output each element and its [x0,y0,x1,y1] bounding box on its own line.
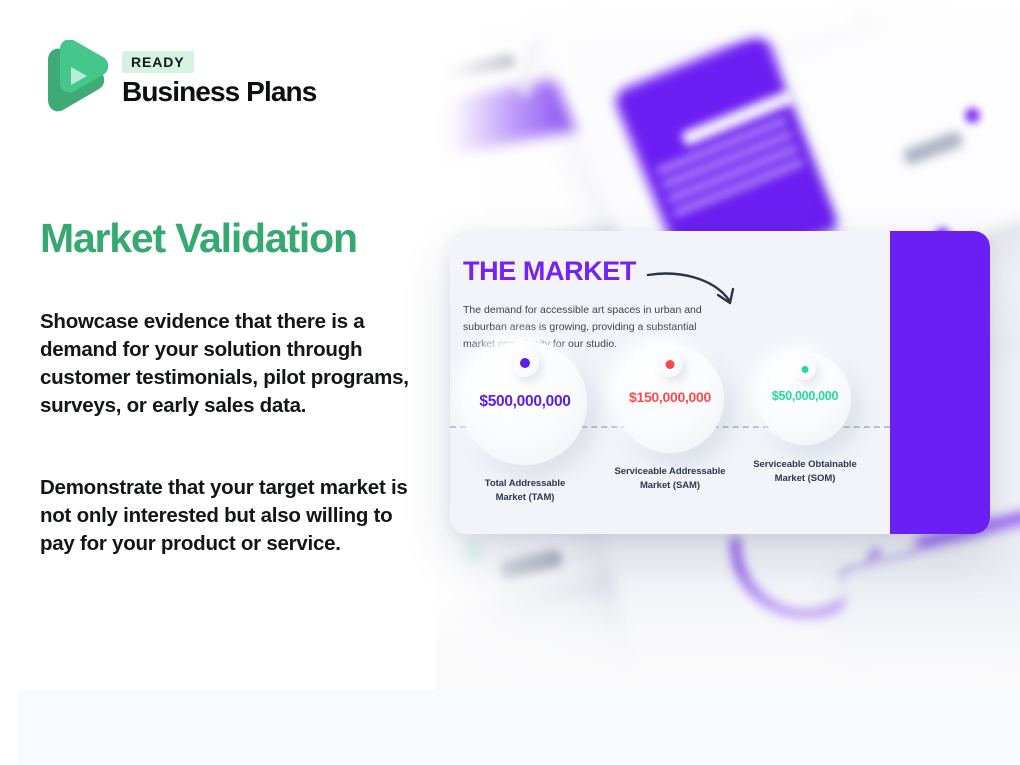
curved-arrow-icon [645,269,755,309]
bubble-label-line-1: Serviceable Obtainable [730,458,880,472]
bubble-circle: $150,000,000 [616,345,724,453]
market-card: THE MARKET The demand for accessible art… [450,231,990,534]
bubble-circle: $50,000,000 [759,353,851,445]
ready-badge: READY [122,51,194,73]
left-content-column: READY Business Plans Market Validation S… [0,0,440,690]
page-title: Market Validation [40,216,357,262]
bubble-knob-icon [658,352,683,377]
bubble-dot-icon [801,366,809,374]
bg-dot [460,540,482,562]
card-title: THE MARKET [463,258,636,285]
slide-canvas: READY Business Plans Market Validation S… [0,0,1020,765]
bubble-value: $500,000,000 [463,393,587,411]
market-bubble-tam: $500,000,000 Total Addressable Market (T… [450,341,600,505]
bubble-label-line-2: Market (SAM) [595,479,745,493]
bubble-dot-icon [666,360,675,369]
bubble-label-line-1: Total Addressable [450,477,600,491]
bubble-label: Serviceable Obtainable Market (SOM) [730,458,880,486]
body-paragraph-2: Demonstrate that your target market is n… [40,474,412,558]
card-purple-accent-block [890,231,990,534]
market-bubble-som: $50,000,000 Serviceable Obtainable Marke… [730,353,880,486]
bubble-label-line-2: Market (SOM) [730,472,880,486]
bubble-circle: $500,000,000 [463,341,587,465]
bubble-label-line-2: Market (TAM) [450,491,600,505]
play-triangle-logo-icon [40,40,108,116]
brand-name: Business Plans [122,77,316,108]
bubble-value: $150,000,000 [616,389,724,405]
brand-text: READY Business Plans [122,49,316,108]
market-bubbles-group: $500,000,000 Total Addressable Market (T… [450,341,890,531]
bubble-knob-icon [795,359,816,380]
brand-lockup: READY Business Plans [40,40,316,116]
bubble-value: $50,000,000 [759,389,851,403]
footer-band-left-notch [0,690,18,765]
bubble-dot-icon [520,358,530,368]
market-bubble-sam: $150,000,000 Serviceable Addressable Mar… [595,345,745,493]
body-paragraph-1: Showcase evidence that there is a demand… [40,308,412,420]
bubble-label-line-1: Serviceable Addressable [595,465,745,479]
footer-band [0,690,1020,765]
bubble-label: Serviceable Addressable Market (SAM) [595,465,745,493]
bubble-knob-icon [511,349,539,377]
bg-dot [965,108,980,123]
bubble-label: Total Addressable Market (TAM) [450,477,600,505]
